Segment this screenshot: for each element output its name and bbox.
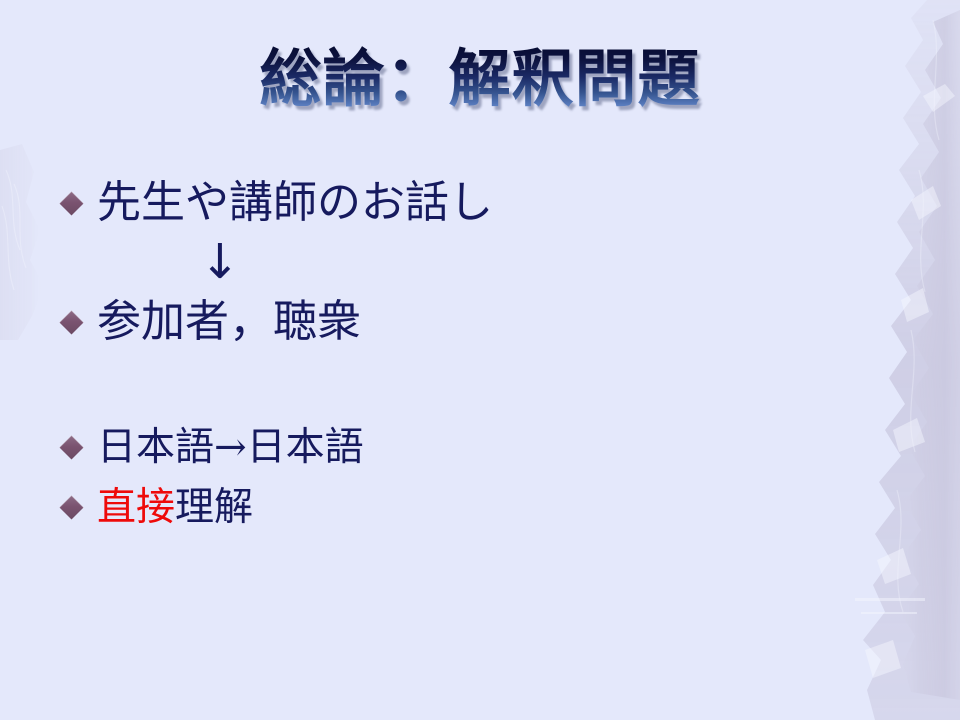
list-item: 直接理解 <box>63 488 253 527</box>
list-item-label: 参加者，聴衆 <box>97 300 361 344</box>
list-item-label: 先生や講師のお話し <box>97 181 493 225</box>
list-item-label: 日本語→日本語 <box>97 428 364 467</box>
emphasis-text: 直接 <box>97 485 175 530</box>
list-item: 先生や講師のお話し <box>63 181 493 225</box>
slide-body: 先生や講師のお話し ↓ 参加者，聴衆 日本語→日本語 直接理解 <box>0 0 960 720</box>
list-item: 参加者，聴衆 <box>63 300 361 344</box>
diamond-bullet-icon <box>59 495 83 519</box>
down-arrow-icon: ↓ <box>196 238 244 286</box>
diamond-bullet-icon <box>59 310 83 334</box>
list-item-label-rest: 理解 <box>175 485 253 530</box>
diamond-bullet-icon <box>59 435 83 459</box>
list-item: 日本語→日本語 <box>63 428 364 467</box>
presentation-slide: 総論：解釈問題 先生や講師のお話し ↓ 参加者，聴衆 日本語→日本語 直接理解 <box>0 0 960 720</box>
list-item-label-emphasis: 直接理解 <box>97 488 253 527</box>
diamond-bullet-icon <box>59 191 83 215</box>
